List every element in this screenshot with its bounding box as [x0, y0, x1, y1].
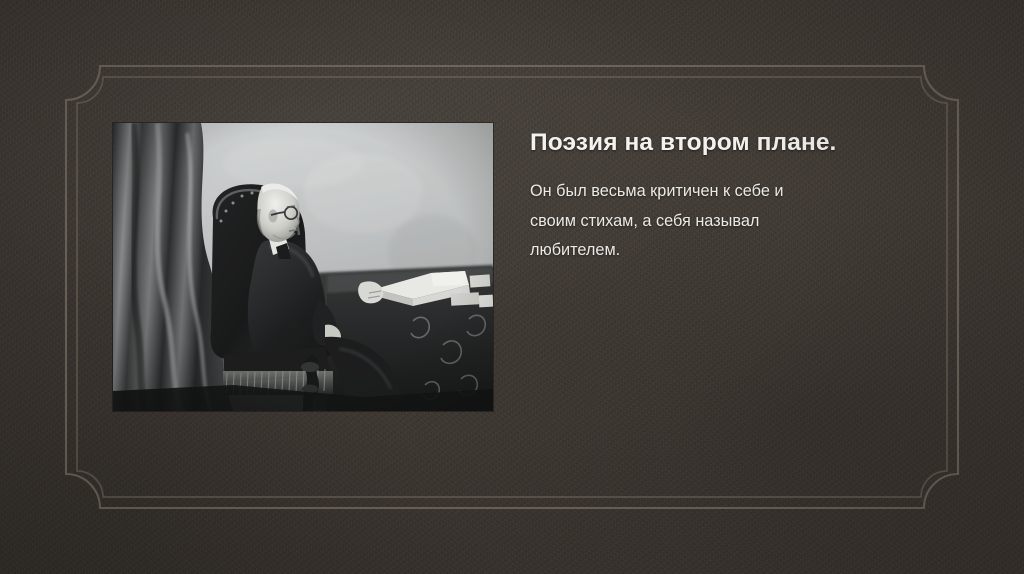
presentation-slide: Поэзия на втором плане. Он был весьма кр… [0, 0, 1024, 574]
slide-title: Поэзия на втором плане. [530, 129, 950, 158]
portrait-photograph [113, 123, 493, 411]
slide-text-block: Поэзия на втором плане. Он был весьма кр… [530, 129, 950, 266]
portrait-photograph-image [113, 123, 493, 411]
slide-body-text: Он был весьма критичен к себе и своим ст… [530, 158, 788, 266]
